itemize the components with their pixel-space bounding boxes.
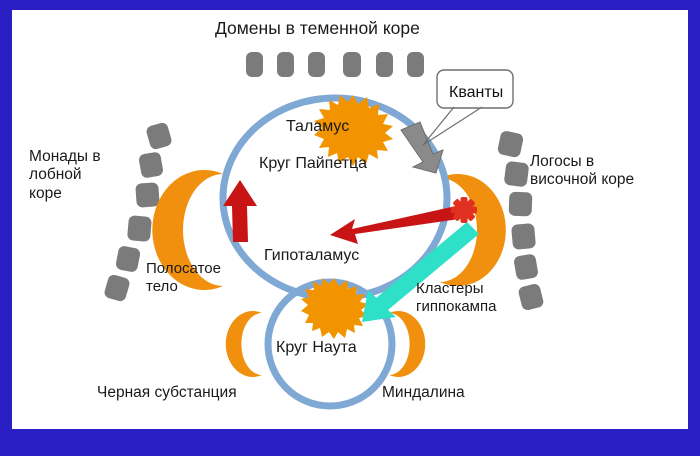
logos-block	[513, 253, 539, 280]
logos-block	[497, 130, 524, 158]
monad-block	[115, 245, 141, 273]
logos-block	[511, 223, 536, 250]
domain-block	[343, 52, 361, 77]
logos-block	[517, 283, 544, 312]
parietal-domain-blocks	[246, 52, 424, 77]
slide-frame: Домены в теменной коре Таламус Круг Пайп…	[0, 0, 700, 456]
domain-block	[376, 52, 393, 77]
domain-block	[277, 52, 294, 77]
label-hippocampus-clusters: Кластеры гиппокампа	[416, 280, 496, 315]
logos-block	[509, 192, 533, 217]
quanta-callout	[423, 70, 513, 145]
substantia-nigra-crescent	[226, 311, 262, 377]
domain-block	[407, 52, 424, 77]
logos-block	[504, 161, 530, 188]
label-papez-circle: Круг Пайпетца	[259, 155, 367, 174]
monad-block	[138, 151, 164, 178]
label-amygdala: Миндалина	[382, 384, 465, 402]
label-thalamus: Таламус	[286, 118, 349, 137]
label-quanta: Кванты	[449, 84, 503, 103]
quanta-asterisk-icon	[451, 197, 477, 223]
diagram-canvas: Домены в теменной коре Таламус Круг Пайп…	[12, 10, 688, 429]
label-striatum: Полосатое тело	[146, 260, 221, 295]
monad-block	[135, 182, 160, 208]
monad-block	[127, 215, 152, 242]
domain-block	[308, 52, 325, 77]
label-logos-temporal-cortex: Логосы в височной коре	[530, 153, 634, 190]
monad-block	[103, 273, 131, 302]
label-substantia-nigra: Черная субстанция	[97, 384, 237, 402]
page-title: Домены в теменной коре	[215, 18, 420, 39]
diagram-svg	[12, 10, 688, 429]
monad-block	[145, 121, 173, 150]
label-monads-frontal-cortex: Монады в лобной коре	[29, 148, 101, 203]
label-nauta-circle: Круг Наута	[276, 339, 357, 358]
domain-block	[246, 52, 263, 77]
label-hypothalamus: Гипоталамус	[264, 247, 359, 266]
quanta-gray-arrow-icon	[401, 122, 443, 173]
